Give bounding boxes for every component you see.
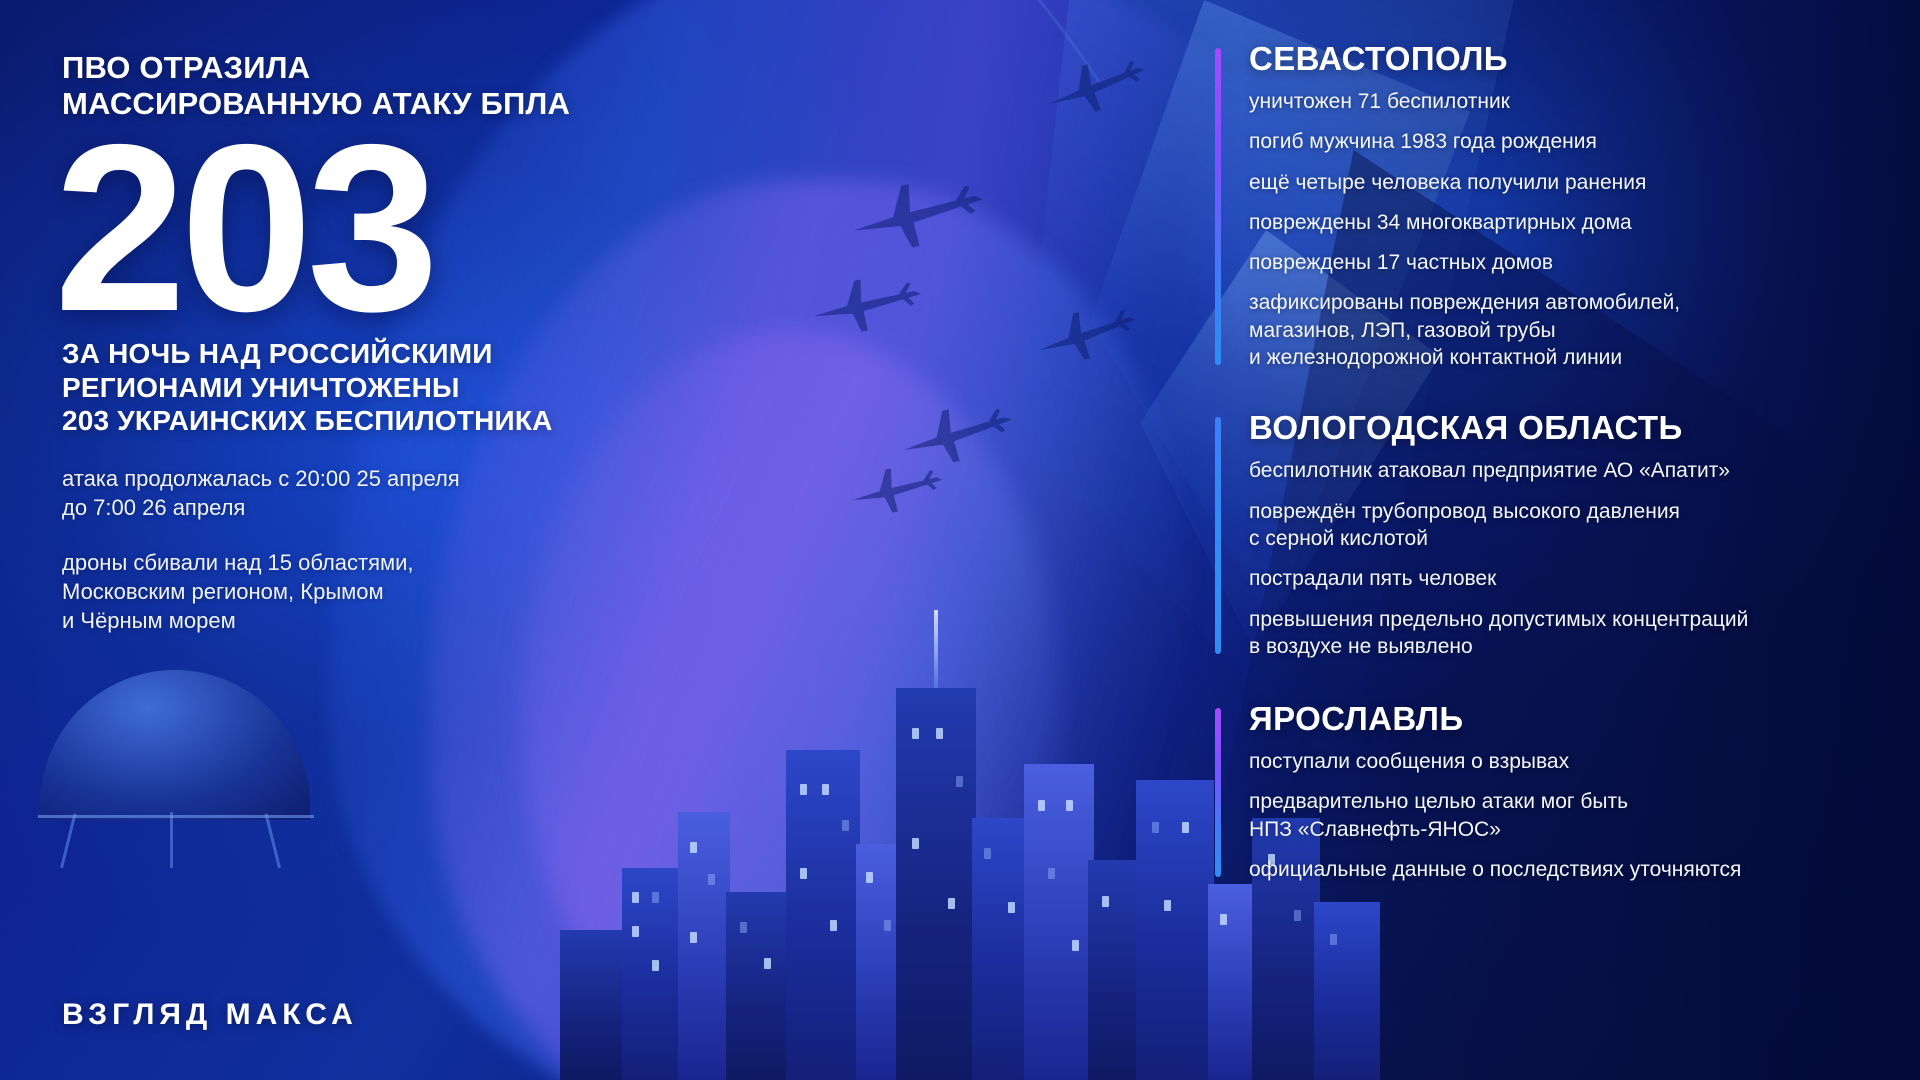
section-sevastopol: СЕВАСТОПОЛЬ уничтожен 71 беспилотник пог… <box>1215 40 1875 371</box>
list-item: повреждён трубопровод высокого давления … <box>1249 498 1875 553</box>
list-item: превышения предельно допустимых концентр… <box>1249 606 1875 661</box>
subheadline-line-3: 203 УКРАИНСКИХ БЕСПИЛОТНИКА <box>62 404 742 438</box>
list-item: зафиксированы повреждения автомобилей, м… <box>1249 289 1875 371</box>
section-accent-bar <box>1215 48 1221 365</box>
list-item: уничтожен 71 беспилотник <box>1249 88 1875 115</box>
subheadline-line-1: ЗА НОЧЬ НАД РОССИЙСКИМИ <box>62 337 742 371</box>
section-yaroslavl: ЯРОСЛАВЛЬ поступали сообщения о взрывах … <box>1215 700 1875 883</box>
list-item: ещё четыре человека получили ранения <box>1249 169 1875 196</box>
attack-duration-line-2: до 7:00 26 апреля <box>62 493 742 522</box>
list-item: погиб мужчина 1983 года рождения <box>1249 128 1875 155</box>
list-item: повреждены 34 многоквартирных дома <box>1249 209 1875 236</box>
section-accent-bar <box>1215 708 1221 877</box>
infographic-canvas: ПВО ОТРАЗИЛА МАССИРОВАННУЮ АТАКУ БПЛА 20… <box>0 0 1920 1080</box>
right-column: СЕВАСТОПОЛЬ уничтожен 71 беспилотник пог… <box>1215 40 1875 909</box>
attack-regions-paragraph: дроны сбивали над 15 областями, Московск… <box>62 548 742 635</box>
attack-regions-line-3: и Чёрным морем <box>62 606 742 635</box>
attack-regions-line-1: дроны сбивали над 15 областями, <box>62 548 742 577</box>
section-title: ЯРОСЛАВЛЬ <box>1249 700 1875 738</box>
list-item: поступали сообщения о взрывах <box>1249 748 1875 775</box>
list-item: предварительно целью атаки мог быть НПЗ … <box>1249 788 1875 843</box>
section-title: СЕВАСТОПОЛЬ <box>1249 40 1875 78</box>
subheadline: ЗА НОЧЬ НАД РОССИЙСКИМИ РЕГИОНАМИ УНИЧТО… <box>62 337 742 438</box>
attack-regions-line-2: Московским регионом, Крымом <box>62 577 742 606</box>
radar-dome <box>20 740 320 930</box>
section-title: ВОЛОГОДСКАЯ ОБЛАСТЬ <box>1249 409 1875 447</box>
list-item: официальные данные о последствиях уточня… <box>1249 856 1875 883</box>
subheadline-line-2: РЕГИОНАМИ УНИЧТОЖЕНЫ <box>62 371 742 405</box>
brand-logo: ВЗГЛЯД МАКСА <box>62 998 358 1032</box>
list-item: повреждены 17 частных домов <box>1249 249 1875 276</box>
list-item: беспилотник атаковал предприятие АО «Апа… <box>1249 457 1875 484</box>
section-vologda: ВОЛОГОДСКАЯ ОБЛАСТЬ беспилотник атаковал… <box>1215 409 1875 660</box>
left-column: ПВО ОТРАЗИЛА МАССИРОВАННУЮ АТАКУ БПЛА 20… <box>62 50 742 635</box>
headline-kicker-line-1: ПВО ОТРАЗИЛА <box>62 50 742 86</box>
attack-duration-paragraph: атака продолжалась с 20:00 25 апреля до … <box>62 464 742 522</box>
list-item: пострадали пять человек <box>1249 565 1875 592</box>
section-accent-bar <box>1215 417 1221 654</box>
big-number: 203 <box>54 127 742 332</box>
attack-duration-line-1: атака продолжалась с 20:00 25 апреля <box>62 464 742 493</box>
